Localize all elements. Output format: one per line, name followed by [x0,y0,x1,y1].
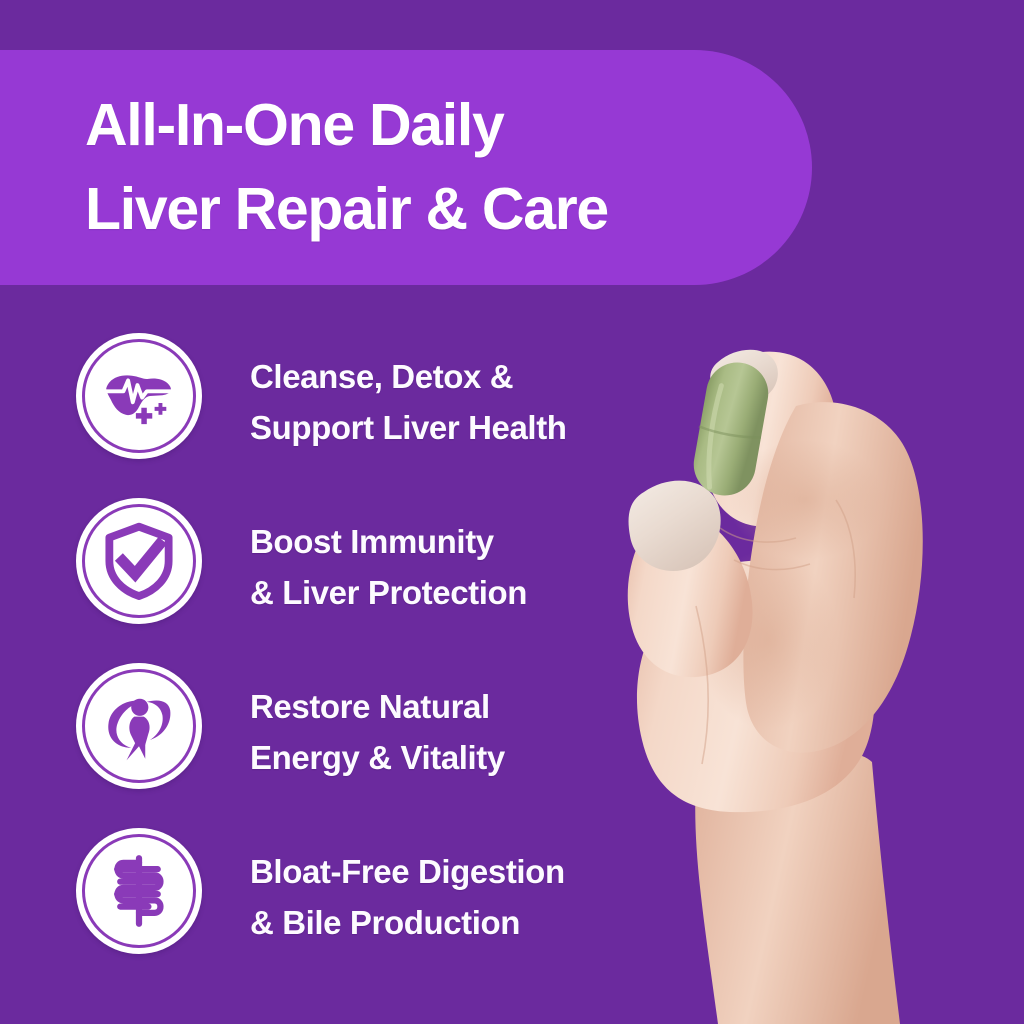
shield-check-icon [100,522,178,600]
benefit-line-2: Energy & Vitality [250,732,505,783]
green-capsule [689,358,773,501]
benefit-icon-badge [76,333,202,459]
benefit-line-2: & Bile Production [250,897,565,948]
palm-shading [698,550,838,730]
curled-fingers [743,402,922,753]
benefit-icon-badge [76,663,202,789]
energy-figure-icon [100,687,178,765]
benefit-item-liver-health: Cleanse, Detox & Support Liver Health [76,333,676,498]
header-banner: All-In-One Daily Liver Repair & Care [0,50,812,285]
benefit-item-digestion: Bloat-Free Digestion & Bile Production [76,828,676,993]
intestine-icon [100,852,178,930]
index-fingernail [710,350,778,404]
benefit-line-1: Restore Natural [250,681,505,732]
benefits-list: Cleanse, Detox & Support Liver Health Bo… [76,333,676,993]
benefit-text: Boost Immunity & Liver Protection [250,498,527,619]
wrist-shape [695,748,900,1024]
page-title-line-1: All-In-One Daily [85,84,812,168]
knuckle-shading [728,440,884,560]
benefit-icon-badge [76,498,202,624]
benefit-line-2: & Liver Protection [250,567,527,618]
skin-creases [696,500,855,764]
product-infographic: All-In-One Daily Liver Repair & Care [0,0,1024,1024]
benefit-line-2: Support Liver Health [250,402,567,453]
benefit-text: Restore Natural Energy & Vitality [250,663,505,784]
benefit-line-1: Cleanse, Detox & [250,351,567,402]
benefit-icon-badge [76,828,202,954]
benefit-text: Cleanse, Detox & Support Liver Health [250,333,567,454]
benefit-text: Bloat-Free Digestion & Bile Production [250,828,565,949]
benefit-item-energy: Restore Natural Energy & Vitality [76,663,676,828]
benefit-line-1: Bloat-Free Digestion [250,846,565,897]
benefit-line-1: Boost Immunity [250,516,527,567]
benefit-item-immunity: Boost Immunity & Liver Protection [76,498,676,663]
page-title-line-2: Liver Repair & Care [85,168,812,252]
liver-pulse-icon [100,357,178,435]
index-finger [704,352,837,527]
